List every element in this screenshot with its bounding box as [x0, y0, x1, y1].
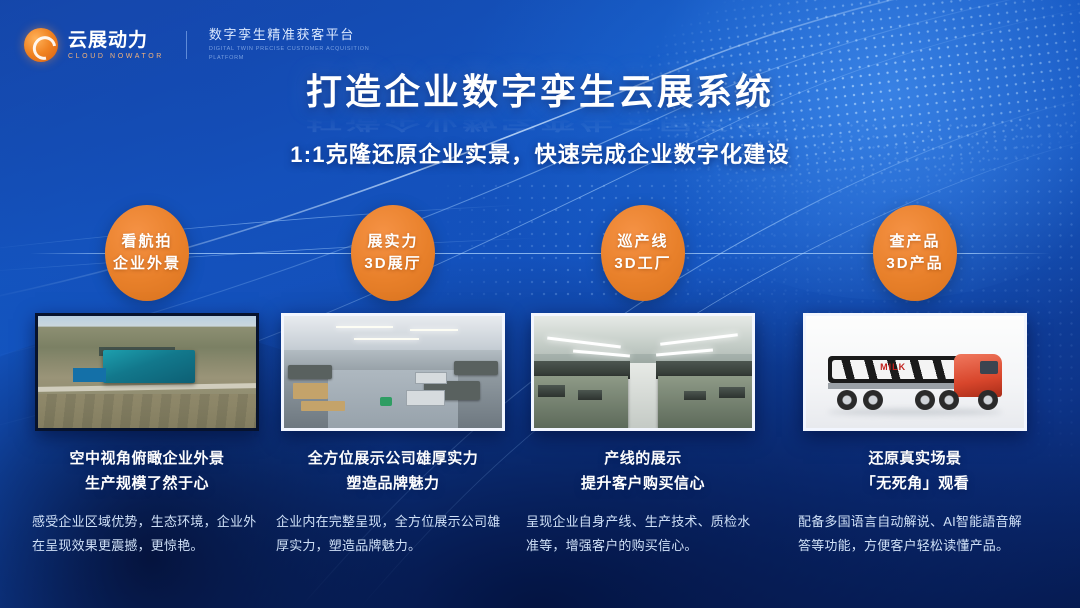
badge-4[interactable]: 查产品 3D产品: [873, 205, 957, 301]
feature-columns: 看航拍 企业外景 空中视角俯瞰企业外景 生产规模了然于心 感受企业区域优势，生态…: [0, 0, 1080, 608]
column-4-heading-line2: 「无死角」观看: [790, 472, 1040, 497]
column-1-body: 感受企业区域优势，生态环境，企业外在呈现效果更震撼，更惊艳。: [22, 510, 272, 558]
product-brand-label: MILK: [880, 362, 906, 372]
column-2-body: 企业内在完整呈现，全方位展示公司雄厚实力，塑造品牌魅力。: [268, 510, 518, 558]
badge-2-line2: 3D展厅: [364, 255, 421, 273]
column-3-body: 呈现企业自身产线、生产技术、质检水准等，增强客户的购买信心。: [518, 510, 768, 558]
column-1-heading-line1: 空中视角俯瞰企业外景: [22, 447, 272, 472]
column-4-body: 配备多国语言自动解说、AI智能語音解答等功能，方便客户轻松读懂产品。: [790, 510, 1040, 558]
badge-4-line1: 查产品: [889, 233, 940, 251]
column-2-heading: 全方位展示公司雄厚实力 塑造品牌魅力: [268, 447, 518, 497]
badge-1-line1: 看航拍: [121, 233, 172, 251]
thumbnail-aerial-view[interactable]: [35, 313, 259, 431]
badge-1-line2: 企业外景: [113, 255, 181, 273]
column-2-heading-line1: 全方位展示公司雄厚实力: [268, 447, 518, 472]
column-1-heading: 空中视角俯瞰企业外景 生产规模了然于心: [22, 447, 272, 497]
column-3-heading-line1: 产线的展示: [518, 447, 768, 472]
badge-3[interactable]: 巡产线 3D工厂: [601, 205, 685, 301]
thumbnail-production-line[interactable]: [531, 313, 755, 431]
badge-4-line2: 3D产品: [886, 255, 943, 273]
badge-2[interactable]: 展实力 3D展厅: [351, 205, 435, 301]
feature-column-2[interactable]: 展实力 3D展厅 全方位展示公司雄厚实力 塑造品牌魅力: [268, 205, 518, 558]
badge-3-line2: 3D工厂: [614, 255, 671, 273]
column-4-heading-line1: 还原真实场景: [790, 447, 1040, 472]
feature-column-4[interactable]: 查产品 3D产品 MILK 还原真实场景 「无死角」观看: [790, 205, 1040, 558]
thumbnail-product-truck[interactable]: MILK: [803, 313, 1027, 431]
badge-3-line1: 巡产线: [617, 233, 668, 251]
column-4-heading: 还原真实场景 「无死角」观看: [790, 447, 1040, 497]
column-3-heading: 产线的展示 提升客户购买信心: [518, 447, 768, 497]
column-3-heading-line2: 提升客户购买信心: [518, 472, 768, 497]
thumbnail-showroom[interactable]: [281, 313, 505, 431]
feature-column-3[interactable]: 巡产线 3D工厂 产线的展示 提升客户购买信: [518, 205, 768, 558]
feature-column-1[interactable]: 看航拍 企业外景 空中视角俯瞰企业外景 生产规模了然于心 感受企业区域优势，生态…: [22, 205, 272, 558]
column-1-heading-line2: 生产规模了然于心: [22, 472, 272, 497]
badge-1[interactable]: 看航拍 企业外景: [105, 205, 189, 301]
badge-2-line1: 展实力: [367, 233, 418, 251]
column-2-heading-line2: 塑造品牌魅力: [268, 472, 518, 497]
slide-canvas: 云展动力 CLOUD NOWATOR 数字孪生精准获客平台 DIGITAL TW…: [0, 0, 1080, 608]
